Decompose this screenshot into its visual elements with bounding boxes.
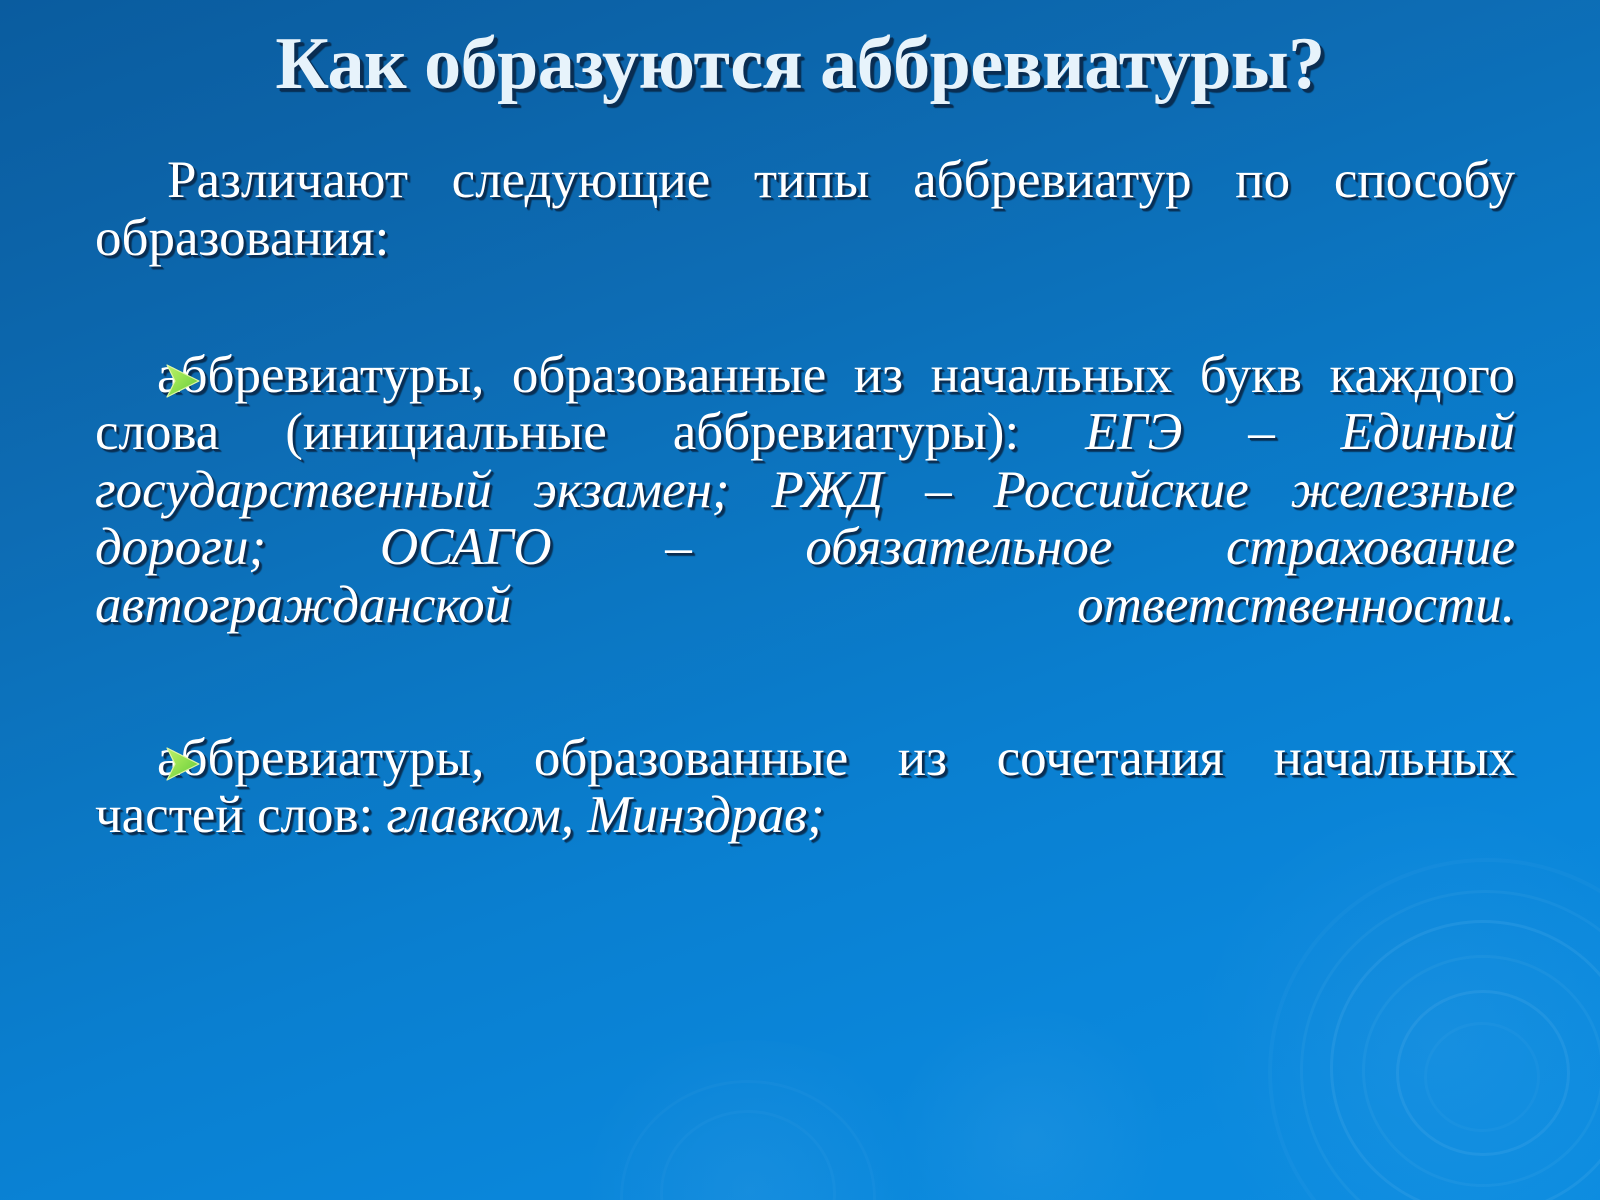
watermark-ripple-ring [1424,1022,1540,1132]
watermark-ripple-ring [1300,890,1600,1200]
watermark-ripple-ring [1330,920,1600,1200]
title-placeholder: Как образуются аббревиатуры? [0,26,1600,104]
background-glow [560,1040,940,1200]
page-title: Как образуются аббревиатуры? [275,26,1324,104]
intro-paragraph: Различают следующие типы аббревиатур по … [95,152,1515,325]
watermark-ripple-ring [620,1080,876,1200]
watermark-ripple-ring [1362,955,1600,1187]
content-placeholder: Различают следующие типы аббревиатур по … [95,152,1515,845]
watermark-ripple-ring [1396,990,1570,1156]
list-item: аббревиатуры, образованные из начальных … [95,347,1515,692]
watermark-ripple-ring [660,1110,836,1200]
background-glow [880,1010,1180,1200]
list-item: аббревиатуры, образованные из сочетания … [95,730,1515,845]
presentation-slide: Как образуются аббревиатуры? Различают с… [0,0,1600,1200]
watermark-ripple-ring [1268,858,1600,1200]
background-glow [1180,800,1600,1200]
list-item-text-italic: главком, Минздрав; [386,786,824,844]
